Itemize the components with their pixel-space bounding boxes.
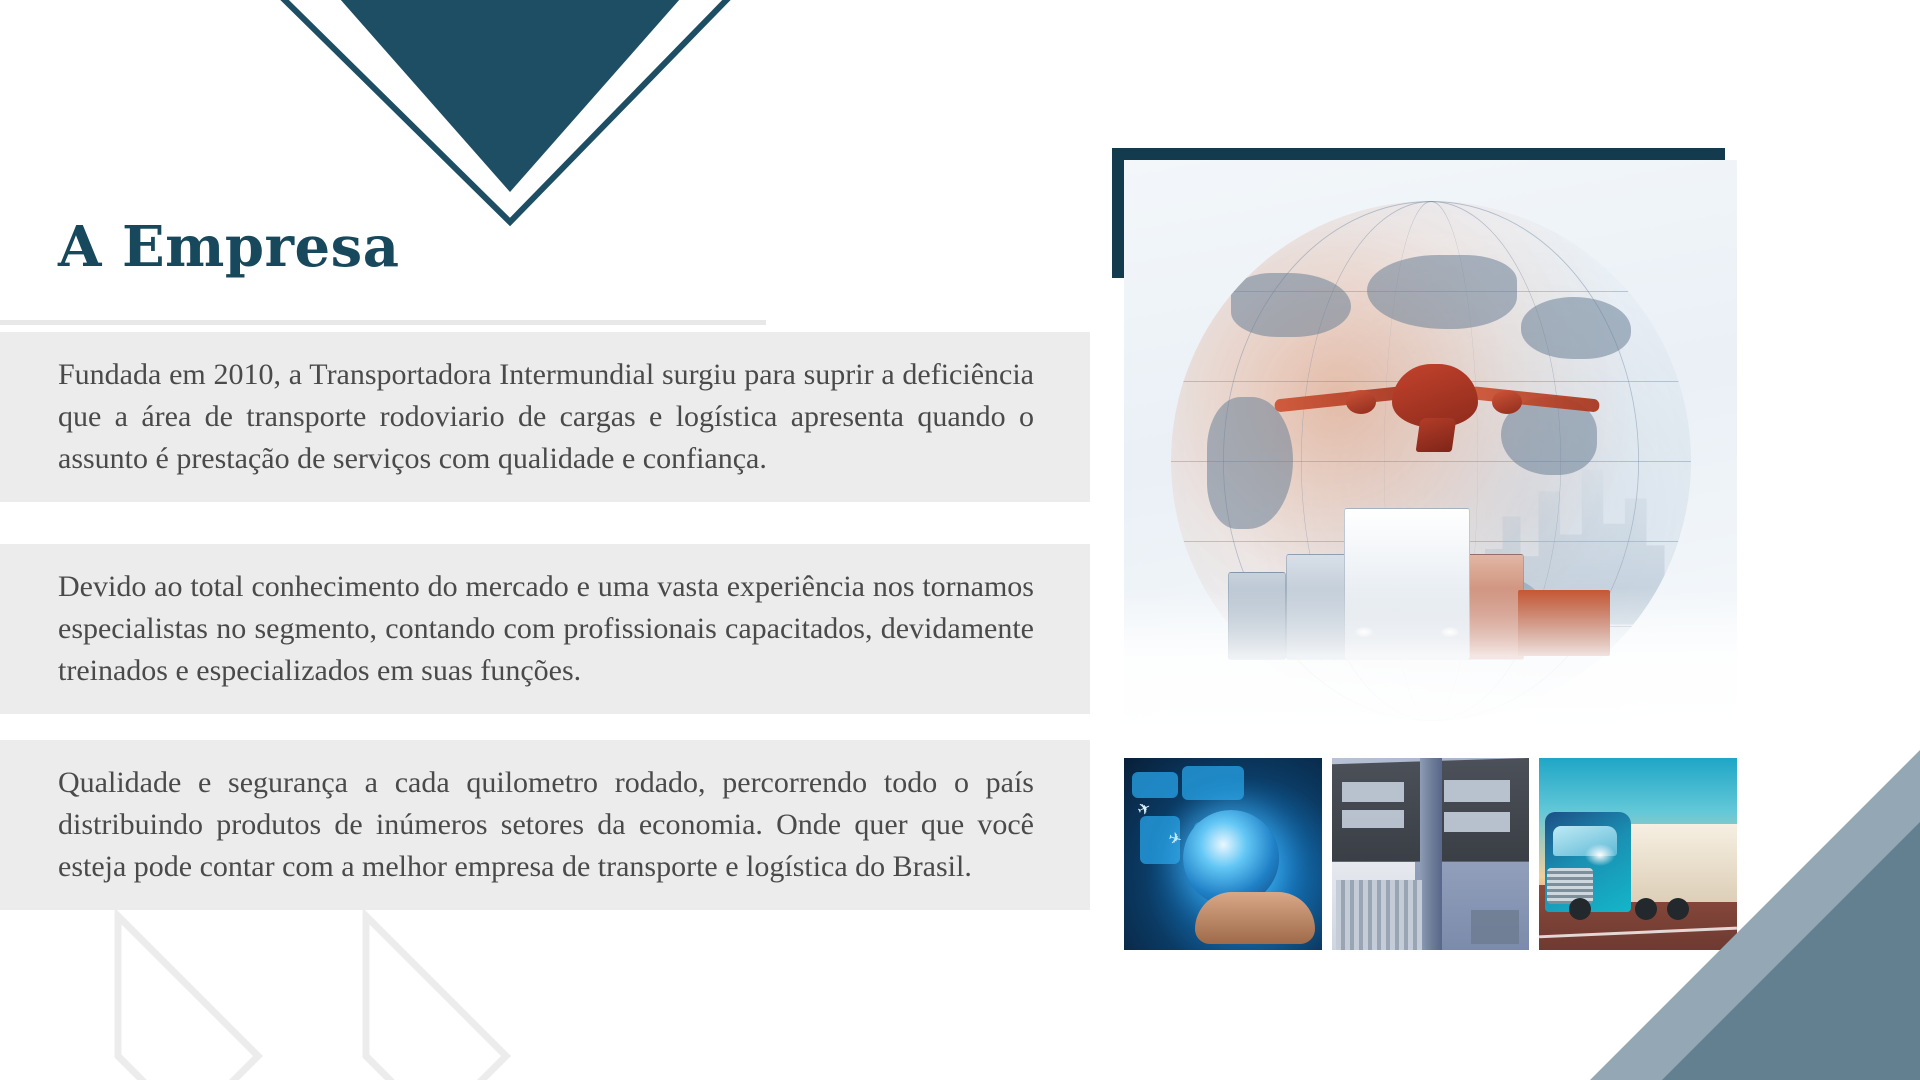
paragraph-block: Devido ao total conhecimento do mercado …	[0, 544, 1090, 714]
airplane-graphic	[1274, 338, 1594, 456]
airplane-engine-left	[1346, 390, 1376, 414]
plane-icon: ✈	[1166, 831, 1183, 850]
airplane-wing-left	[1274, 386, 1405, 413]
title-divider-rule	[0, 320, 766, 325]
page-title: A Empresa	[58, 218, 399, 277]
globe-continent	[1367, 255, 1517, 329]
diagonal-corner-decoration	[1490, 750, 1920, 1080]
chevron-outline-shape	[244, 0, 744, 222]
paragraph-block: Fundada em 2010, a Transportadora Interm…	[0, 332, 1090, 502]
diamond-outline	[366, 916, 506, 1080]
hand-graphic	[1195, 892, 1315, 944]
thumb-global-network-image: ✈ ✈ ✈	[1124, 758, 1322, 950]
building-column	[1420, 758, 1442, 950]
paragraph-text: Qualidade e segurança a cada quilometro …	[58, 762, 1034, 888]
map-shape	[1182, 766, 1244, 800]
airplane-engine-right	[1492, 390, 1522, 414]
airplane-wing-right	[1469, 386, 1600, 413]
map-shape	[1132, 772, 1178, 798]
globe-continent	[1231, 273, 1351, 337]
paragraph-text: Devido ao total conhecimento do mercado …	[58, 566, 1034, 692]
hero-logistics-globe-image	[1124, 160, 1737, 738]
outline-diamonds-decoration	[0, 880, 560, 1080]
corner-dark-triangle	[1662, 822, 1920, 1080]
airplane-tail	[1416, 418, 1457, 452]
building-window	[1342, 782, 1404, 802]
building-window	[1342, 810, 1404, 828]
slide-a-empresa: A Empresa Fundada em 2010, a Transportad…	[0, 0, 1920, 1080]
paragraph-text: Fundada em 2010, a Transportadora Interm…	[58, 354, 1034, 480]
chevron-solid-shape	[288, 0, 732, 192]
diamond-outline	[118, 916, 258, 1080]
building-gate	[1336, 880, 1422, 950]
floor-reflection	[1124, 588, 1737, 738]
